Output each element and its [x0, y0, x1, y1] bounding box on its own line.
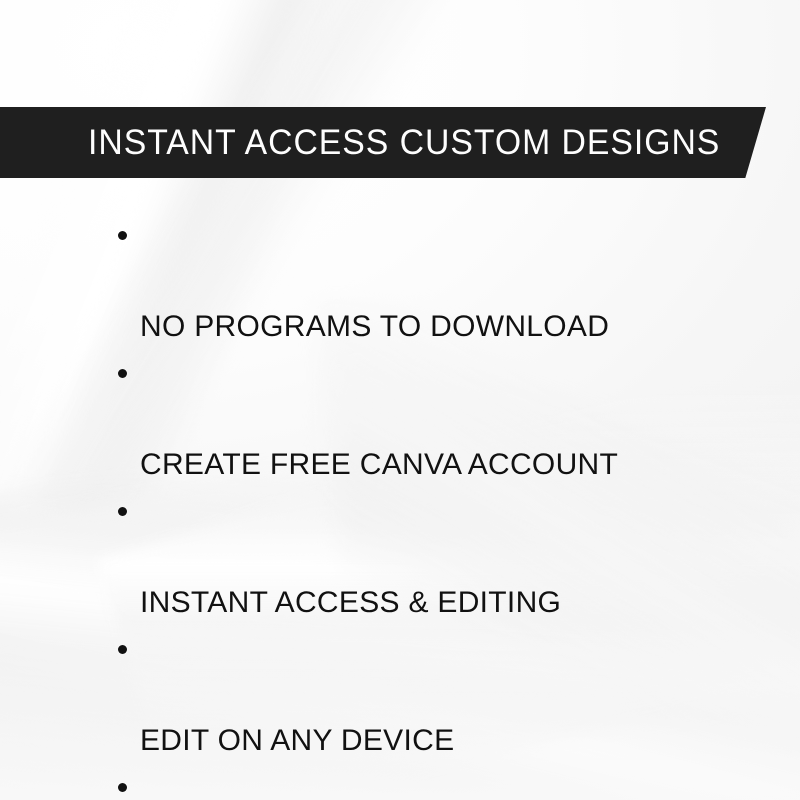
bullet-icon — [118, 231, 127, 240]
bullet-icon — [118, 369, 127, 378]
feature-list: NO PROGRAMS TO DOWNLOAD CREATE FREE CANV… — [0, 212, 800, 800]
list-item-label: EDIT ON ANY DEVICE — [140, 724, 454, 757]
list-item-label: NO PROGRAMS TO DOWNLOAD — [140, 310, 609, 343]
list-item: NO PROGRAMS TO DOWNLOAD — [0, 212, 800, 350]
list-item: CREATE FREE CANVA ACCOUNT — [0, 350, 800, 488]
list-item-label: CREATE FREE CANVA ACCOUNT — [140, 448, 618, 481]
bullet-icon — [118, 645, 127, 654]
bullet-icon — [118, 507, 127, 516]
list-item-label: INSTANT ACCESS & EDITING — [140, 586, 561, 619]
bullet-icon — [118, 783, 127, 792]
poster-canvas: INSTANT ACCESS CUSTOM DESIGNS NO PROGRAM… — [0, 0, 800, 800]
header-banner: INSTANT ACCESS CUSTOM DESIGNS — [0, 107, 766, 178]
list-item: EDIT ON ANY DEVICE — [0, 626, 800, 764]
list-item: INSTANT ACCESS & EDITING — [0, 488, 800, 626]
list-item: EASY TO USE — [0, 764, 800, 800]
page-title: INSTANT ACCESS CUSTOM DESIGNS — [88, 125, 720, 160]
